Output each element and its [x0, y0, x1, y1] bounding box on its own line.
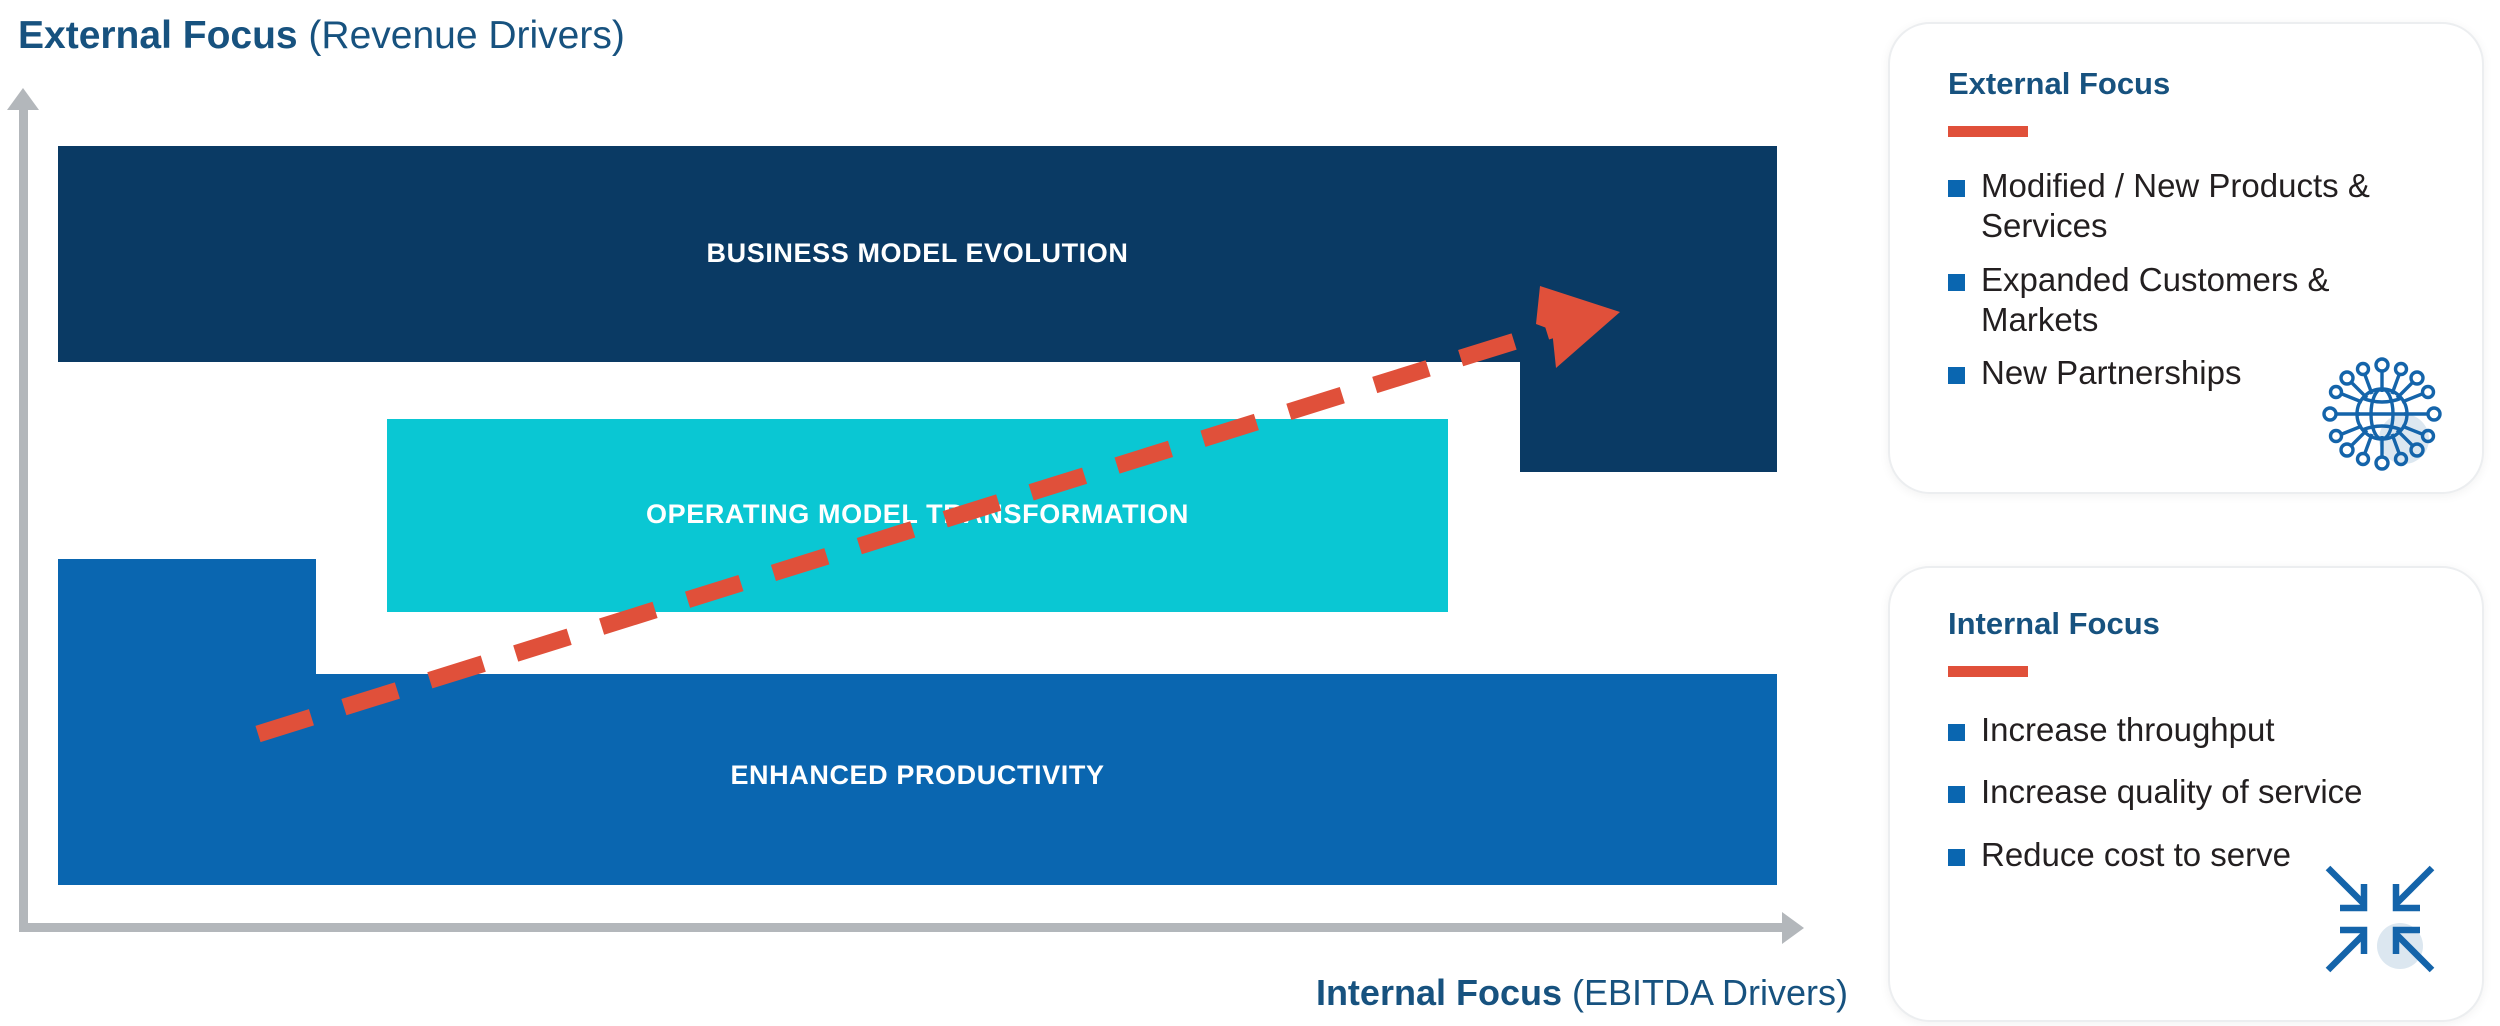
x-axis-title: Internal Focus (EBITDA Drivers)	[1316, 972, 1848, 1014]
list-item-label: Increase quality of service	[1981, 772, 2363, 812]
bullet-square-icon	[1948, 180, 1965, 197]
y-axis-title: External Focus (Revenue Drivers)	[18, 14, 625, 58]
bar-business-model-step-block	[1520, 362, 1777, 472]
y-axis-title-bold: External Focus	[18, 14, 298, 57]
list-item-label: Increase throughput	[1981, 710, 2275, 750]
list-item-label: New Partnerships	[1981, 353, 2241, 393]
bullet-square-icon	[1948, 786, 1965, 803]
x-axis-title-bold: Internal Focus	[1316, 972, 1562, 1013]
y-axis-title-light: (Revenue Drivers)	[298, 14, 625, 57]
list-item: Increase quality of service	[1948, 772, 2412, 812]
bar-business-model-evolution: BUSINESS MODEL EVOLUTION	[58, 146, 1777, 362]
card-internal-focus: Internal Focus Increase throughput Incre…	[1888, 566, 2484, 1022]
bar-enhanced-productivity: ENHANCED PRODUCTIVITY	[58, 674, 1777, 885]
card-title-underline	[1948, 126, 2028, 137]
globe-network-icon	[2322, 354, 2442, 474]
bar-label-enhanced-productivity: ENHANCED PRODUCTIVITY	[58, 760, 1777, 791]
bar-label-business-model-evolution: BUSINESS MODEL EVOLUTION	[58, 238, 1777, 269]
list-item: Expanded Customers & Markets	[1948, 260, 2412, 341]
list-item: Increase throughput	[1948, 710, 2412, 750]
x-axis-title-light: (EBITDA Drivers)	[1562, 972, 1848, 1013]
bullet-square-icon	[1948, 849, 1965, 866]
x-axis-arrowhead-icon	[1782, 912, 1804, 944]
bullet-square-icon	[1948, 367, 1965, 384]
card-title-underline	[1948, 666, 2028, 677]
y-axis-arrowhead-icon	[7, 88, 39, 110]
list-item-label: Reduce cost to serve	[1981, 835, 2291, 875]
bar-operating-model-transformation: OPERATING MODEL TRANSFORMATION	[387, 419, 1448, 612]
bullet-square-icon	[1948, 274, 1965, 291]
card-external-focus-title: External Focus	[1948, 66, 2170, 102]
card-external-focus: External Focus Modified / New Products &…	[1888, 22, 2484, 494]
bullet-square-icon	[1948, 724, 1965, 741]
list-item-label: Expanded Customers & Markets	[1981, 260, 2412, 341]
x-axis-line	[19, 923, 1787, 932]
list-item-label: Modified / New Products & Services	[1981, 166, 2412, 247]
bar-enhanced-productivity-step-block	[58, 559, 316, 674]
list-item: Modified / New Products & Services	[1948, 166, 2412, 247]
chart-area: External Focus (Revenue Drivers) BUSINES…	[0, 0, 1880, 1026]
compress-arrows-icon	[2320, 858, 2440, 980]
bar-label-operating-model-transformation: OPERATING MODEL TRANSFORMATION	[387, 499, 1448, 530]
card-internal-focus-title: Internal Focus	[1948, 606, 2160, 642]
y-axis-line	[19, 105, 28, 932]
